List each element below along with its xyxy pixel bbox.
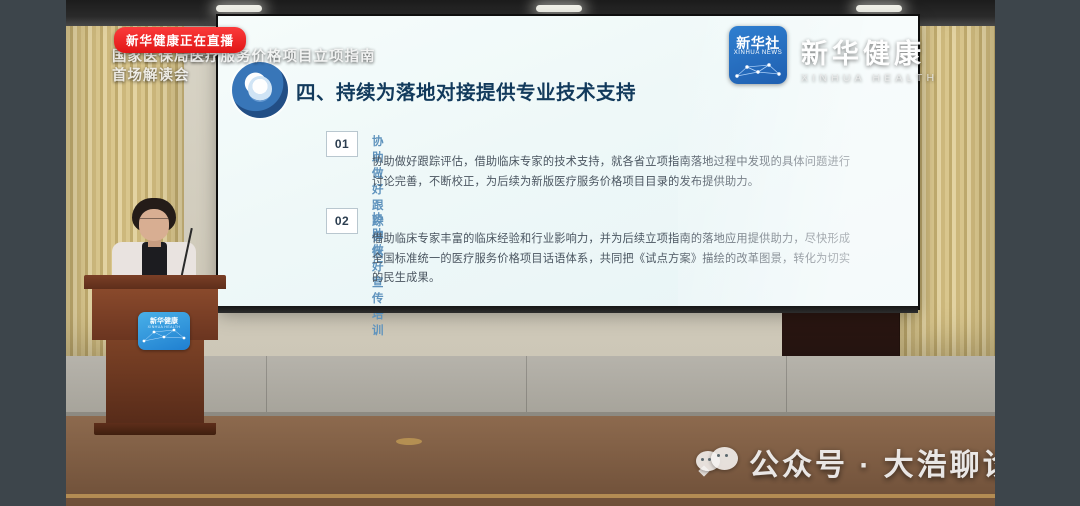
wechat-eye-dot [701, 458, 704, 461]
item-body-line: 讨论完善，不断校正，为后续为新版医疗服务价格项目目录的发布提供助力。 [372, 173, 880, 193]
wechat-eye-dot [717, 454, 720, 457]
wechat-bubble-front [711, 447, 738, 470]
wechat-account-text: 公众号 · 大浩聊诊断 [749, 440, 995, 484]
broadcast-title-line-2: 首场解读会 [112, 67, 376, 86]
podium-column [106, 339, 204, 425]
stage-seam [786, 356, 787, 414]
item-body-line: 全国标准统一的医疗服务价格项目话语体系，共同把《试点方案》描绘的改革图景，转化为… [372, 250, 880, 270]
wechat-eye-dot [725, 454, 728, 457]
wechat-account-watermark: 公众号 · 大浩聊诊断 [696, 440, 995, 484]
podium-brand-badge: 新华健康 XINHUA HEALTH [138, 312, 190, 350]
video-player-frame[interactable]: 四、持续为落地对接提供专业技术支持 01 协助做好跟踪评估 协助做好跟踪评估，借… [66, 0, 995, 506]
speaker-glasses [140, 218, 168, 225]
podium-top-surface [84, 275, 226, 289]
wechat-eye-dot [708, 458, 711, 461]
floor-marker [396, 438, 422, 445]
item-body: 协助做好跟踪评估，借助临床专家的技术支持，就各省立项指南落地过程中发现的具体问题… [372, 153, 880, 192]
letterbox-right [995, 0, 1080, 506]
screen-bottom-frame [218, 306, 918, 313]
stage-seam [526, 356, 527, 414]
stage-seam [266, 356, 267, 414]
xinhua-health-cn: 新华健康 [801, 32, 938, 71]
item-number-badge: 02 [326, 208, 358, 234]
xinhua-news-logo: 新华社 XINHUA NEWS [729, 26, 787, 84]
ceiling-light [856, 5, 902, 12]
xinhua-health-en: XINHUA HEALTH [801, 72, 938, 84]
stage-platform [66, 356, 995, 416]
podium-front-panel: 新华健康 XINHUA HEALTH [92, 288, 218, 340]
floor-trim [66, 494, 995, 498]
item-number-badge: 01 [326, 131, 358, 157]
xinhua-health-watermark: 新华健康 XINHUA HEALTH [801, 32, 938, 84]
item-body: 借助临床专家丰富的临床经验和行业影响力，并为后续立项指南的落地应用提供助力，尽快… [372, 230, 880, 289]
podium-foot [94, 423, 216, 435]
network-graphic [729, 57, 787, 81]
broadcast-title-overlay: 国家医保局医疗服务价格项目立项指南 首场解读会 [112, 48, 376, 86]
ceiling-light [216, 5, 262, 12]
live-status-badge: 新华健康正在直播 [114, 27, 246, 53]
letterbox-left [0, 0, 66, 506]
screenshot-stage: 四、持续为落地对接提供专业技术支持 01 协助做好跟踪评估 协助做好跟踪评估，借… [0, 0, 1080, 506]
item-body-line: 协助做好跟踪评估，借助临床专家的技术支持，就各省立项指南落地过程中发现的具体问题… [372, 153, 880, 173]
network-graphic [138, 323, 190, 347]
item-body-line: 借助临床专家丰富的临床经验和行业影响力，并为后续立项指南的落地应用提供助力，尽快… [372, 230, 880, 250]
speaker-face [139, 209, 169, 241]
ceiling-light [536, 5, 582, 12]
item-body-line: 的民生成果。 [372, 269, 880, 289]
wechat-icon [696, 445, 738, 479]
xinhua-logo-en: XINHUA NEWS [729, 50, 787, 56]
